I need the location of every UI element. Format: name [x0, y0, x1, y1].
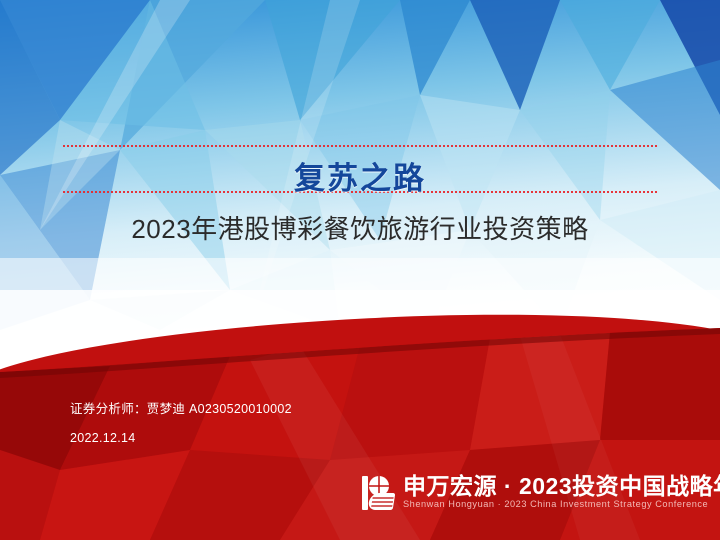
shenwan-hongyuan-globe-logo-icon: [362, 475, 396, 511]
logo-english-text: Shenwan Hongyuan · 2023 China Investment…: [403, 498, 720, 512]
logo-chinese-text: 申万宏源 · 2023投资中国战略年会: [403, 474, 720, 498]
publish-date: 2022.12.14: [70, 431, 136, 445]
hand-icon: [368, 493, 396, 510]
slide-subtitle: 2023年港股博彩餐饮旅游行业投资策略: [0, 209, 720, 246]
logo-text-group: 申万宏源 · 2023投资中国战略年会 Shenwan Hongyuan · 2…: [403, 474, 720, 512]
logo-bar-shape: [362, 476, 368, 510]
conference-logo-lockup: 申万宏源 · 2023投资中国战略年会 Shenwan Hongyuan · 2…: [362, 474, 720, 512]
presentation-slide: 复苏之路 2023年港股博彩餐饮旅游行业投资策略 证券分析师：贾梦迪 A0230…: [0, 0, 720, 540]
title-rule-top: [62, 145, 658, 147]
slide-title: 复苏之路: [0, 153, 720, 198]
analyst-credit: 证券分析师：贾梦迪 A0230520010002: [70, 398, 292, 417]
